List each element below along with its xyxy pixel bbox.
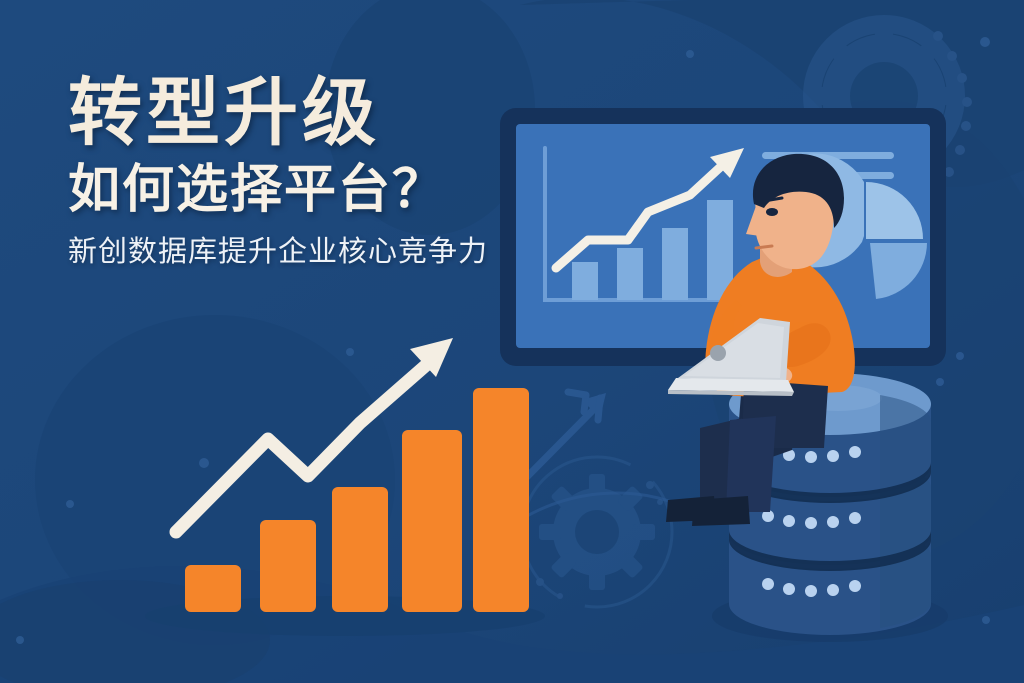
bar-5: [473, 388, 529, 612]
poster-text-block: 转型升级 如何选择平台？ 新创数据库提升企业核心竞争力: [68, 76, 588, 267]
bar-3: [332, 487, 388, 612]
bar-2: [260, 520, 316, 612]
page-subtitle: 如何选择平台？: [68, 164, 588, 216]
bar-4: [402, 430, 462, 612]
page-tagline: 新创数据库提升企业核心竞争力: [68, 238, 588, 267]
bar-1: [185, 565, 241, 612]
poster-canvas: 转型升级 如何选择平台？ 新创数据库提升企业核心竞争力: [0, 0, 1024, 683]
page-title: 转型升级: [68, 76, 588, 150]
